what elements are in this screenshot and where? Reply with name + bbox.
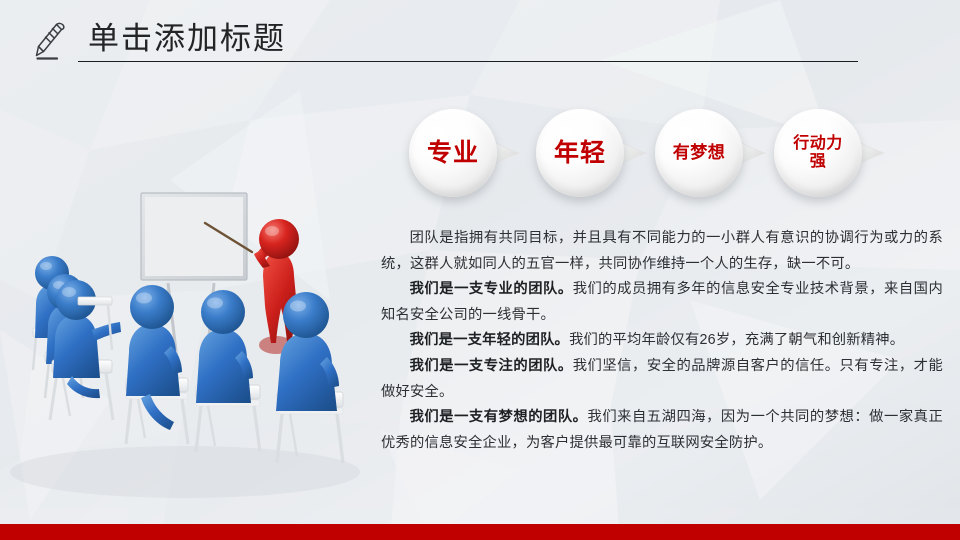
badge-row: 专业 年轻 有梦想 行动力 强 [398, 103, 958, 203]
paragraph-3-rest: 我们的平均年龄仅有26岁，充满了朝气和创新精神。 [569, 332, 904, 348]
pencil-icon [28, 20, 68, 66]
badge-label: 行动力 强 [793, 135, 843, 171]
title-divider [78, 61, 858, 62]
footer-accent-bar [0, 524, 960, 540]
paragraph-2-lead: 我们是一支专业的团队。 [410, 281, 573, 297]
badge-item-1[interactable]: 专业 [409, 103, 539, 203]
badge-disc: 专业 [409, 109, 497, 197]
team-training-illustration [0, 180, 375, 500]
badge-label: 有梦想 [673, 143, 726, 162]
paragraph-3-lead: 我们是一支年轻的团队。 [410, 332, 569, 348]
badge-item-3[interactable]: 有梦想 [655, 103, 785, 203]
badge-label: 年轻 [554, 139, 606, 167]
badge-disc: 有梦想 [655, 109, 743, 197]
paragraph-5: 我们是一支有梦想的团队。我们来自五湖四海，因为一个共同的梦想：做一家真正优秀的信… [381, 405, 943, 456]
badge-label: 专业 [427, 139, 479, 167]
badge-item-2[interactable]: 年轻 [536, 103, 666, 203]
paragraph-1: 团队是指拥有共同目标，并且具有不同能力的一小群人有意识的协调行为或力的系统，这群… [381, 226, 943, 277]
slide-canvas: 单击添加标题 专业 年轻 [0, 0, 960, 540]
badge-disc: 行动力 强 [774, 109, 862, 197]
paragraph-4-lead: 我们是一支专注的团队。 [410, 358, 573, 374]
paragraph-3: 我们是一支年轻的团队。我们的平均年龄仅有26岁，充满了朝气和创新精神。 [381, 328, 943, 354]
body-text-block: 团队是指拥有共同目标，并且具有不同能力的一小群人有意识的协调行为或力的系统，这群… [381, 226, 943, 456]
student-2 [196, 290, 260, 452]
student-1 [126, 285, 188, 444]
student-row-front [126, 285, 343, 463]
paragraph-4: 我们是一支专注的团队。我们坚信，安全的品牌源自客户的信任。只有专注，才能做好安全… [381, 354, 943, 405]
paragraph-2: 我们是一支专业的团队。我们的成员拥有多年的信息安全专业技术背景，来自国内知名安全… [381, 277, 943, 328]
page-title: 单击添加标题 [88, 20, 286, 58]
presenter-figure [254, 219, 299, 354]
student-group-left [33, 256, 121, 420]
student-3 [276, 292, 343, 463]
paragraph-5-lead: 我们是一支有梦想的团队。 [410, 409, 588, 425]
badge-disc: 年轻 [536, 109, 624, 197]
badge-item-4[interactable]: 行动力 强 [774, 103, 904, 203]
slide-header: 单击添加标题 [0, 0, 960, 75]
